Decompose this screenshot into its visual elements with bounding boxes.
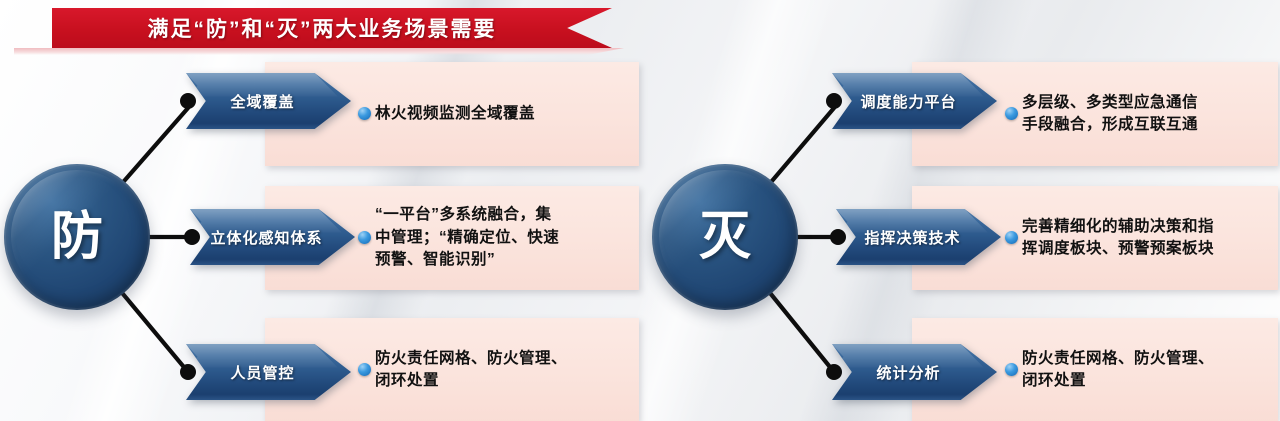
badge-extinguish-2[interactable]: 指挥决策技术 — [836, 209, 1001, 265]
badge-label: 全域覆盖 — [230, 91, 294, 112]
hub-circle-prevent[interactable]: 防 — [4, 164, 150, 310]
badge-extinguish-3[interactable]: 统计分析 — [832, 344, 997, 400]
connector-prevent-1 — [118, 108, 188, 188]
bullet-icon — [358, 231, 371, 244]
badge-label: 指挥决策技术 — [864, 227, 960, 248]
hub-label: 防 — [51, 211, 103, 263]
badge-prevent-2[interactable]: 立体化感知体系 — [190, 209, 355, 265]
page-title: 满足“防”和“灭”两大业务场景需要 — [148, 13, 497, 43]
slide-canvas: 满足“防”和“灭”两大业务场景需要 林火视频监测全域覆盖 “一平台”多系统融合，… — [0, 0, 1280, 421]
hub-label: 灭 — [699, 211, 751, 263]
badge-label: 统计分析 — [876, 362, 940, 383]
bullet-icon — [1005, 363, 1018, 376]
bullet-icon — [1005, 107, 1018, 120]
detail-text: 完善精细化的辅助决策和指 挥调度板块、预警预案板块 — [1022, 216, 1214, 261]
bullet-icon — [358, 363, 371, 376]
badge-prevent-1[interactable]: 全域覆盖 — [186, 73, 351, 129]
detail-text: 林火视频监测全域覆盖 — [375, 103, 535, 125]
badge-label: 立体化感知体系 — [210, 227, 322, 248]
connector-prevent-3 — [118, 288, 188, 372]
connector-extinguish-3 — [766, 288, 834, 372]
ribbon-shadow — [14, 48, 624, 55]
badge-label: 调度能力平台 — [860, 91, 956, 112]
badge-prevent-3[interactable]: 人员管控 — [186, 344, 351, 400]
badge-label: 人员管控 — [230, 362, 294, 383]
connector-extinguish-1 — [766, 108, 834, 188]
title-ribbon: 满足“防”和“灭”两大业务场景需要 — [52, 8, 612, 48]
detail-text: 多层级、多类型应急通信 手段融合，形成互联互通 — [1022, 92, 1198, 137]
ribbon-body: 满足“防”和“灭”两大业务场景需要 — [52, 8, 612, 48]
hub-circle-extinguish[interactable]: 灭 — [652, 164, 798, 310]
badge-extinguish-1[interactable]: 调度能力平台 — [832, 73, 997, 129]
detail-text: “一平台”多系统融合，集 中管理；“精确定位、快速 预警、智能识别” — [375, 204, 559, 271]
detail-text: 防火责任网格、防火管理、 闭环处置 — [375, 348, 567, 393]
bullet-icon — [358, 107, 371, 120]
bullet-icon — [1005, 231, 1018, 244]
detail-text: 防火责任网格、防火管理、 闭环处置 — [1022, 348, 1214, 393]
